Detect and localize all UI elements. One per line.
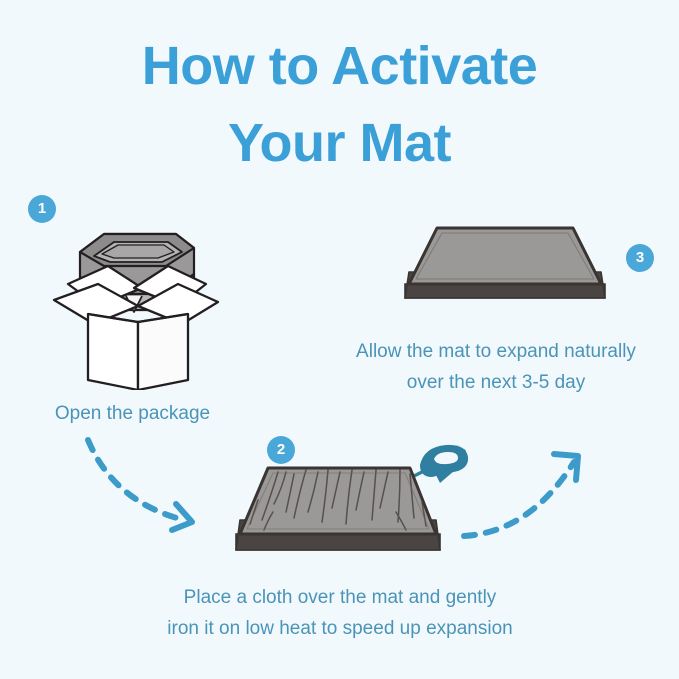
- curved-dashed-arrow-down-right-icon: [80, 432, 220, 542]
- step-3-caption-line-2: over the next 3-5 day: [407, 372, 586, 393]
- step-badge-3: 3: [626, 244, 654, 272]
- curved-dashed-arrow-up-right-icon: [458, 440, 598, 550]
- step-2-caption-line-1: Place a cloth over the mat and gently: [184, 587, 497, 608]
- step-2-caption: Place a cloth over the mat and gently ir…: [105, 583, 575, 645]
- title-line-1: How to Activate: [0, 28, 679, 105]
- step-badge-1: 1: [28, 195, 56, 223]
- wrinkled-mat-icon: [228, 460, 448, 560]
- step-2-caption-line-2: iron it on low heat to speed up expansio…: [167, 618, 512, 639]
- infographic-canvas: How to Activate Your Mat 1 Open the pack…: [0, 0, 679, 679]
- flat-mat-icon: [395, 222, 615, 310]
- step-1-caption: Open the package: [0, 399, 265, 430]
- open-box-icon: [46, 222, 222, 390]
- step-3-caption: Allow the mat to expand naturally over t…: [320, 337, 672, 399]
- step-3-caption-line-1: Allow the mat to expand naturally: [356, 341, 636, 362]
- page-title: How to Activate Your Mat: [0, 28, 679, 181]
- title-line-2: Your Mat: [0, 105, 679, 182]
